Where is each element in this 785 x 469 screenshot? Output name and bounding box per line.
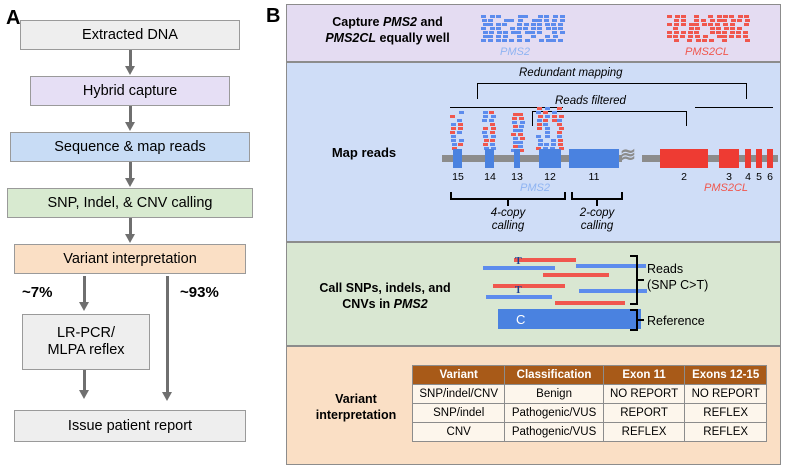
map-label-pms2: PMS2 bbox=[520, 182, 550, 194]
variant-interpretation-label: Variant interpretation bbox=[301, 392, 411, 423]
table-cell-r0-c3: NO REPORT bbox=[685, 385, 767, 404]
legend-brace-reads-stem bbox=[637, 279, 644, 281]
read-tile bbox=[737, 27, 742, 30]
read-tile bbox=[490, 15, 495, 18]
read-tile bbox=[502, 39, 507, 42]
reference-sequence-box: C bbox=[498, 309, 641, 329]
flow-step-issue-patient-report: Issue patient report bbox=[14, 410, 246, 442]
read-tile bbox=[736, 35, 741, 38]
read-tile bbox=[518, 19, 523, 22]
legend-brace-reads-top bbox=[630, 255, 637, 257]
read-tile bbox=[518, 113, 523, 116]
read-tile bbox=[459, 139, 464, 142]
read-tile bbox=[512, 117, 517, 120]
read-tile bbox=[694, 23, 699, 26]
read-tile bbox=[537, 31, 542, 34]
read-tile bbox=[559, 115, 564, 118]
read-tile bbox=[559, 127, 564, 130]
read-tile bbox=[557, 123, 562, 126]
read-tile bbox=[709, 39, 714, 42]
exon-number-6: 6 bbox=[759, 171, 781, 183]
read-tile bbox=[689, 27, 694, 30]
table-cell-r0-c2: NO REPORT bbox=[603, 385, 685, 404]
table-col-header-3: Exons 12-15 bbox=[685, 366, 767, 385]
read-tile bbox=[694, 19, 699, 22]
read-tile bbox=[674, 31, 679, 34]
brace-4copy-line2: calling bbox=[492, 220, 525, 232]
read-tile bbox=[681, 23, 686, 26]
read-tile bbox=[517, 23, 522, 26]
read-tile bbox=[483, 143, 488, 146]
read-tile bbox=[452, 143, 457, 146]
variant-marker-t-2: T bbox=[515, 286, 522, 296]
section-variant-interpretation: Variant interpretation VariantClassifica… bbox=[286, 346, 781, 465]
call-label-gene-pms2: PMS2 bbox=[394, 297, 428, 311]
capture-label-pms2cl: PMS2CL bbox=[685, 46, 729, 58]
table-col-header-2: Exon 11 bbox=[603, 366, 685, 385]
read-tile bbox=[695, 27, 700, 30]
read-tile bbox=[681, 19, 686, 22]
brace-2copy-line1: 2-copy bbox=[580, 207, 615, 219]
read-tile bbox=[520, 121, 525, 124]
read-tile bbox=[451, 127, 456, 130]
panel-b-pipeline: Capture PMS2 and PMS2CL equally well PMS… bbox=[286, 4, 781, 465]
legend-label-reference: Reference bbox=[647, 313, 705, 329]
bracket-label-reads-filtered: Reads filtered bbox=[555, 95, 626, 107]
read-tile bbox=[517, 35, 522, 38]
call-variants-label: Call SNPs, indels, and CNVs in PMS2 bbox=[295, 281, 475, 312]
read-tile bbox=[518, 129, 523, 132]
read-tile bbox=[517, 27, 522, 30]
read-tile bbox=[496, 15, 501, 18]
read-tile bbox=[483, 135, 488, 138]
legend-brace-ref-bottom bbox=[630, 329, 637, 331]
read-tile bbox=[729, 15, 734, 18]
read-tile bbox=[537, 27, 542, 30]
read-tile bbox=[551, 143, 556, 146]
read-tile bbox=[551, 23, 556, 26]
panel-a-letter: A bbox=[6, 8, 20, 28]
read-tile bbox=[696, 39, 701, 42]
exon-pms2cl-6 bbox=[767, 149, 773, 168]
panel-a-workflow: A Extracted DNA Hybrid capture Sequence … bbox=[0, 0, 262, 469]
read-tile bbox=[545, 115, 550, 118]
read-tile bbox=[490, 143, 495, 146]
read-tile bbox=[745, 19, 750, 22]
read-tile bbox=[525, 39, 530, 42]
table-col-header-0: Variant bbox=[413, 366, 505, 385]
read-tile bbox=[544, 15, 549, 18]
read-tile bbox=[557, 107, 562, 110]
read-tile bbox=[724, 27, 729, 30]
read-tile bbox=[667, 31, 672, 34]
table-cell-r2-c0: CNV bbox=[413, 423, 505, 442]
read-tile bbox=[552, 31, 557, 34]
read-tile bbox=[509, 39, 514, 42]
read-tile bbox=[681, 31, 686, 34]
exon-pms2cl-3 bbox=[719, 149, 739, 168]
read-tile bbox=[518, 145, 523, 148]
read-tile bbox=[710, 27, 715, 30]
flow-arrow-7-line bbox=[83, 370, 86, 392]
read-tile bbox=[530, 31, 535, 34]
read-tile bbox=[722, 39, 727, 42]
read-tile bbox=[558, 23, 563, 26]
exon-number-15: 15 bbox=[447, 171, 469, 183]
read-tile bbox=[551, 139, 556, 142]
read-tile bbox=[545, 131, 550, 134]
read-tile bbox=[546, 39, 551, 42]
read-tile bbox=[694, 31, 699, 34]
flow-step-lrpcr-mlpa-reflex: LR-PCR/ MLPA reflex bbox=[22, 314, 150, 370]
read-tile bbox=[511, 133, 516, 136]
read-tile bbox=[681, 15, 686, 18]
read-tile bbox=[558, 143, 563, 146]
flow-step-hybrid-capture: Hybrid capture bbox=[30, 76, 230, 106]
read-tile bbox=[545, 135, 550, 138]
break-symbol-icon: ≋ bbox=[620, 146, 636, 165]
exon-number-11: 11 bbox=[583, 171, 605, 183]
table-cell-r2-c1: Pathogenic/VUS bbox=[505, 423, 603, 442]
read-tile bbox=[667, 15, 672, 18]
read-tile bbox=[491, 115, 496, 118]
read-tile bbox=[552, 119, 557, 122]
read-tile bbox=[510, 27, 515, 30]
read-tile bbox=[543, 123, 548, 126]
read-tile bbox=[458, 123, 463, 126]
flow-arrow-2-head bbox=[125, 122, 135, 131]
read-tile bbox=[484, 139, 489, 142]
read-tile bbox=[459, 111, 464, 114]
read-tile bbox=[509, 19, 514, 22]
read-tile bbox=[545, 107, 550, 110]
read-tile bbox=[537, 19, 542, 22]
read-tile bbox=[694, 15, 699, 18]
flow-pct-right: ~93% bbox=[180, 284, 219, 301]
read-tile bbox=[558, 27, 563, 30]
read-tile bbox=[537, 127, 542, 130]
read-tile bbox=[710, 31, 715, 34]
bracket-redundant-right-tick bbox=[746, 83, 747, 99]
read-tile bbox=[483, 31, 488, 34]
read-tile bbox=[482, 119, 487, 122]
read-tile bbox=[489, 119, 494, 122]
read-tile bbox=[702, 23, 707, 26]
read-tile bbox=[513, 137, 518, 140]
flow-arrow-6-line bbox=[166, 276, 169, 394]
read-tile bbox=[730, 31, 735, 34]
read-tile bbox=[667, 35, 672, 38]
read-tile bbox=[560, 31, 565, 34]
flow-step-lrpcr-line1: LR-PCR/ bbox=[57, 325, 115, 342]
read-tile bbox=[667, 23, 672, 26]
vi-label-line1: Variant bbox=[335, 392, 377, 406]
read-tile bbox=[545, 23, 550, 26]
read-tile bbox=[552, 19, 557, 22]
read-tile bbox=[536, 135, 541, 138]
section-call-variants: Call SNPs, indels, and CNVs in PMS2 T T … bbox=[286, 242, 781, 346]
read-tile bbox=[496, 39, 501, 42]
read-tile bbox=[729, 35, 734, 38]
read-tile bbox=[708, 15, 713, 18]
read-tile bbox=[517, 39, 522, 42]
read-tile bbox=[539, 39, 544, 42]
flow-arrow-6-head bbox=[162, 392, 172, 401]
capture-title: Capture PMS2 and PMS2CL equally well bbox=[305, 15, 470, 46]
read-tile bbox=[488, 35, 493, 38]
read-tile bbox=[737, 19, 742, 22]
brace-4copy-line1: 4-copy bbox=[491, 207, 526, 219]
capture-title-part1: Capture bbox=[332, 15, 383, 29]
align-read-red-4 bbox=[555, 301, 625, 305]
read-tile bbox=[716, 27, 721, 30]
bracket-redundant-left-tick bbox=[477, 83, 478, 99]
read-tile bbox=[490, 131, 495, 134]
read-tile bbox=[710, 19, 715, 22]
read-tile bbox=[490, 123, 495, 126]
read-tile bbox=[538, 15, 543, 18]
table-cell-r2-c2: REFLEX bbox=[603, 423, 685, 442]
legend-brace-reads-bottom bbox=[630, 303, 637, 305]
table-cell-r2-c3: REFLEX bbox=[685, 423, 767, 442]
flow-arrow-3-head bbox=[125, 178, 135, 187]
read-tile bbox=[560, 15, 565, 18]
legend-reads-line2: (SNP C>T) bbox=[647, 278, 708, 292]
read-tile bbox=[537, 123, 542, 126]
read-tile bbox=[457, 119, 462, 122]
read-tile bbox=[491, 127, 496, 130]
read-tile bbox=[553, 35, 558, 38]
legend-reads-line1: Reads bbox=[647, 262, 683, 276]
read-tile bbox=[538, 139, 543, 142]
table-col-header-1: Classification bbox=[505, 366, 603, 385]
read-tile bbox=[503, 31, 508, 34]
read-tile bbox=[557, 131, 562, 134]
capture-label-pms2: PMS2 bbox=[500, 46, 530, 58]
read-tile bbox=[744, 23, 749, 26]
table-row: SNP/indelPathogenic/VUSREPORTREFLEX bbox=[413, 404, 767, 423]
read-tile bbox=[674, 19, 679, 22]
section-capture: Capture PMS2 and PMS2CL equally well PMS… bbox=[286, 4, 781, 62]
read-tile bbox=[481, 39, 486, 42]
read-tile bbox=[450, 131, 455, 134]
read-tile bbox=[553, 15, 558, 18]
read-tile bbox=[481, 27, 486, 30]
variant-marker-t-1: T bbox=[515, 257, 522, 267]
read-tile bbox=[543, 111, 548, 114]
table-cell-r1-c1: Pathogenic/VUS bbox=[505, 404, 603, 423]
read-tile bbox=[488, 39, 493, 42]
legend-brace-ref-stem bbox=[637, 319, 644, 321]
read-tile bbox=[673, 27, 678, 30]
read-tile bbox=[560, 19, 565, 22]
read-tile bbox=[674, 23, 679, 26]
legend-label-reads: Reads (SNP C>T) bbox=[647, 261, 708, 294]
flow-step-variant-interpretation: Variant interpretation bbox=[14, 244, 246, 274]
table-row: SNP/indel/CNVBenignNO REPORTNO REPORT bbox=[413, 385, 767, 404]
read-tile bbox=[552, 115, 557, 118]
read-tile bbox=[537, 107, 542, 110]
align-read-red-2 bbox=[543, 273, 609, 277]
flow-step-sequence-map-reads: Sequence & map reads bbox=[10, 132, 250, 162]
read-tile bbox=[551, 39, 556, 42]
read-tile bbox=[716, 31, 721, 34]
brace-2copy-stem bbox=[596, 198, 598, 206]
read-tile bbox=[557, 119, 562, 122]
bracket-filtered-left-tick bbox=[532, 111, 533, 126]
table-cell-r0-c0: SNP/indel/CNV bbox=[413, 385, 505, 404]
read-tile bbox=[545, 127, 550, 130]
read-tile bbox=[537, 23, 542, 26]
read-tile bbox=[496, 27, 501, 30]
table-cell-r1-c2: REPORT bbox=[603, 404, 685, 423]
read-tile bbox=[552, 111, 557, 114]
read-tile bbox=[687, 39, 692, 42]
read-tile bbox=[513, 129, 518, 132]
read-tile bbox=[516, 31, 521, 34]
brace-2copy-right bbox=[621, 192, 623, 199]
read-tile bbox=[673, 35, 678, 38]
exon-pms2-13 bbox=[514, 149, 520, 168]
vi-label-line2: interpretation bbox=[316, 408, 397, 422]
table-header-row: VariantClassificationExon 11Exons 12-15 bbox=[413, 366, 767, 385]
read-tile bbox=[558, 139, 563, 142]
exon-pms2-14 bbox=[485, 149, 494, 168]
read-tile bbox=[723, 23, 728, 26]
capture-title-gene-pms2cl: PMS2CL bbox=[325, 31, 376, 45]
panel-b-letter: B bbox=[266, 6, 280, 26]
read-tile bbox=[490, 139, 495, 142]
read-tile bbox=[451, 135, 456, 138]
read-tile bbox=[450, 115, 455, 118]
read-tile bbox=[744, 15, 749, 18]
flow-pct-left: ~7% bbox=[22, 284, 52, 301]
read-tile bbox=[491, 135, 496, 138]
exon-pms2-12 bbox=[539, 149, 561, 168]
map-label-pms2cl: PMS2CL bbox=[704, 182, 748, 194]
brace-4copy-left bbox=[450, 192, 452, 199]
read-tile bbox=[552, 27, 557, 30]
legend-brace-ref-top bbox=[630, 309, 637, 311]
read-tile bbox=[537, 119, 542, 122]
read-tile bbox=[451, 139, 456, 142]
read-tile bbox=[701, 19, 706, 22]
exon-pms2cl-5 bbox=[756, 149, 762, 168]
read-tile bbox=[688, 35, 693, 38]
flow-arrow-4-head bbox=[125, 234, 135, 243]
read-tile bbox=[743, 35, 748, 38]
read-tile bbox=[722, 31, 727, 34]
read-tile bbox=[674, 39, 679, 42]
read-tile bbox=[544, 143, 549, 146]
call-label-line1: Call SNPs, indels, and bbox=[319, 281, 450, 295]
read-tile bbox=[680, 35, 685, 38]
brace-4copy-right bbox=[564, 192, 566, 199]
read-tile bbox=[738, 15, 743, 18]
read-tile bbox=[502, 23, 507, 26]
read-tile bbox=[557, 135, 562, 138]
read-tile bbox=[536, 111, 541, 114]
read-tile bbox=[702, 39, 707, 42]
bracket-label-redundant-mapping: Redundant mapping bbox=[519, 67, 623, 79]
read-tile bbox=[489, 31, 494, 34]
read-tile bbox=[512, 121, 517, 124]
call-label-line2-pre: CNVs in bbox=[342, 297, 393, 311]
read-tile bbox=[488, 23, 493, 26]
flow-arrow-5-head bbox=[79, 302, 89, 311]
brace-4copy-stem bbox=[507, 198, 509, 206]
flow-step-extracted-dna: Extracted DNA bbox=[20, 20, 240, 50]
brace-label-2copy-calling: 2-copy calling bbox=[561, 207, 633, 233]
read-tile bbox=[743, 31, 748, 34]
flow-arrow-5-line bbox=[83, 276, 86, 304]
capture-title-gene-pms2: PMS2 bbox=[383, 15, 417, 29]
read-tile bbox=[496, 35, 501, 38]
bracket-redundant-top bbox=[477, 83, 747, 84]
table-cell-r0-c1: Benign bbox=[505, 385, 603, 404]
bracket-filtered-right-tick bbox=[686, 111, 687, 126]
read-tile bbox=[722, 19, 727, 22]
read-tile bbox=[483, 127, 488, 130]
read-tile bbox=[458, 127, 463, 130]
read-tile bbox=[503, 35, 508, 38]
read-tile bbox=[531, 23, 536, 26]
read-tile bbox=[675, 15, 680, 18]
read-tile bbox=[531, 27, 536, 30]
read-tile bbox=[558, 39, 563, 42]
exon-pms2cl-4 bbox=[745, 149, 751, 168]
read-tile bbox=[518, 133, 523, 136]
read-tile bbox=[482, 19, 487, 22]
read-tile bbox=[489, 111, 494, 114]
read-tile bbox=[544, 19, 549, 22]
read-tile bbox=[520, 137, 525, 140]
underline-pms2cl-exons bbox=[695, 107, 773, 108]
read-tile bbox=[519, 125, 524, 128]
read-tile bbox=[483, 111, 488, 114]
read-tile bbox=[730, 27, 735, 30]
read-tile bbox=[717, 15, 722, 18]
capture-title-part3: equally well bbox=[376, 31, 450, 45]
align-read-red-1 bbox=[514, 258, 576, 262]
flow-arrow-7-head bbox=[79, 390, 89, 399]
read-tile bbox=[703, 35, 708, 38]
read-tile bbox=[736, 31, 741, 34]
map-reads-label: Map reads bbox=[309, 145, 419, 161]
exon-pms2-11 bbox=[569, 149, 619, 168]
table-cell-r1-c0: SNP/indel bbox=[413, 404, 505, 423]
exon-pms2cl-2 bbox=[660, 149, 708, 168]
read-tile bbox=[496, 23, 501, 26]
read-tile bbox=[483, 115, 488, 118]
flow-arrow-1-head bbox=[125, 66, 135, 75]
read-tile bbox=[715, 23, 720, 26]
exon-pms2-15 bbox=[453, 149, 462, 168]
read-tile bbox=[538, 143, 543, 146]
read-tile bbox=[722, 35, 727, 38]
read-tile bbox=[497, 31, 502, 34]
read-tile bbox=[482, 131, 487, 134]
read-tile bbox=[519, 117, 524, 120]
read-tile bbox=[523, 15, 528, 18]
exon-number-14: 14 bbox=[479, 171, 501, 183]
read-tile bbox=[708, 23, 713, 26]
read-tile bbox=[488, 19, 493, 22]
read-tile bbox=[458, 143, 463, 146]
brace-2copy-left bbox=[571, 192, 573, 199]
table-row: CNVPathogenic/VUSREFLEXREFLEX bbox=[413, 423, 767, 442]
read-tile bbox=[451, 123, 456, 126]
